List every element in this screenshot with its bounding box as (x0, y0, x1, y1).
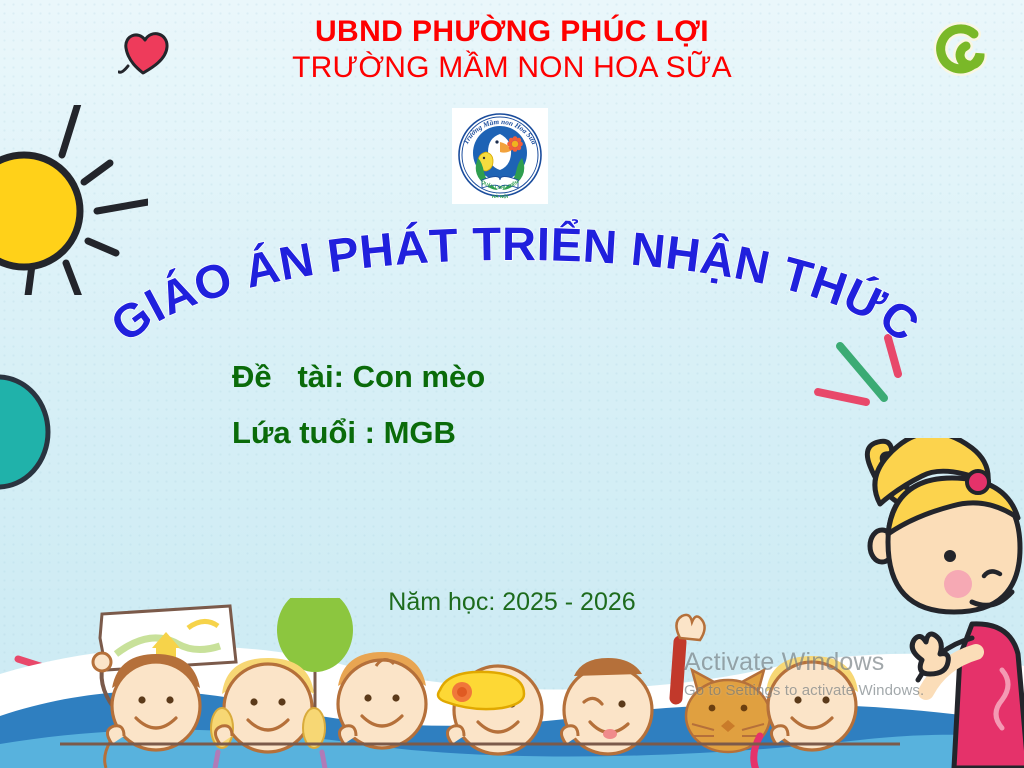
children-row (60, 598, 900, 768)
cat-face-icon (686, 670, 770, 752)
green-balloon-icon (277, 598, 353, 738)
subject-age-group: Lứa tuổi : MGB (232, 411, 485, 455)
subject-topic: Đề tài: Con mèo (232, 355, 485, 399)
child-face-winking (564, 658, 652, 754)
header-title-block: UBND PHƯỜNG PHÚC LỢI TRƯỜNG MẦM NON HOA … (0, 16, 1024, 84)
subject-block: Đề tài: Con mèo Lứa tuổi : MGB (232, 355, 485, 455)
child-face (211, 658, 326, 768)
teal-balloon-icon (0, 370, 70, 520)
arched-title-wordart: GIÁO ÁN PHÁT TRIỂN NHẬN THỨC (120, 222, 910, 352)
logo-city-text: HÀ NỘI (492, 192, 508, 199)
child-face (105, 654, 200, 768)
svg-text:GIÁO ÁN PHÁT TRIỂN NHẬN THỨC: GIÁO ÁN PHÁT TRIỂN NHẬN THỨC (101, 217, 930, 352)
school-year-text: Năm học: 2025 - 2026 (0, 588, 1024, 617)
windows-activation-watermark: Activate Windows Go to Settings to activ… (684, 648, 924, 699)
child-face (338, 652, 426, 748)
arched-title-text: GIÁO ÁN PHÁT TRIỂN NHẬN THỨC (101, 217, 930, 352)
header-line-2: TRƯỜNG MẦM NON HOA SỮA (0, 52, 1024, 84)
watermark-title: Activate Windows (684, 648, 924, 677)
watermark-subtitle: Go to Settings to activate Windows. (684, 682, 924, 699)
child-face (754, 656, 858, 768)
confetti-strokes-left (0, 645, 90, 715)
presentation-slide: UBND PHƯỜNG PHÚC LỢI TRƯỜNG MẦM NON HOA … (0, 0, 1024, 768)
child-face-with-hat (438, 666, 542, 754)
header-line-1: UBND PHƯỜNG PHÚC LỢI (0, 16, 1024, 48)
school-logo: Trường Mầm non Hoa Sữa QUẬN LONG BIÊN HÀ… (452, 108, 548, 204)
